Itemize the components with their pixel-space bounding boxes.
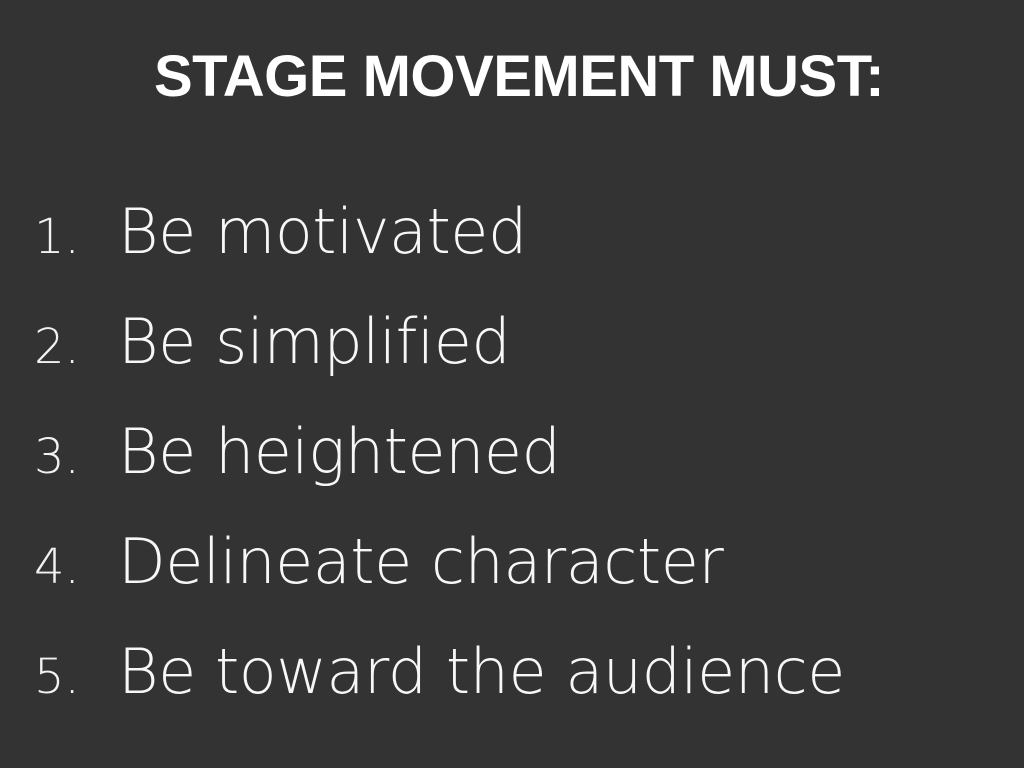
- list-item-label: Delineate character: [118, 526, 1024, 598]
- list-item-label: Be motivated: [118, 196, 1024, 268]
- page-title: STAGE MOVEMENT MUST:: [0, 44, 1024, 110]
- list-item-label: Be toward the audience: [118, 636, 1024, 708]
- list-item: 3. Be heightened: [0, 416, 1024, 526]
- numbered-list: 1. Be motivated 2. Be simplified 3. Be h…: [0, 196, 1024, 746]
- list-item-number: 1.: [0, 201, 118, 273]
- list-item: 4. Delineate character: [0, 526, 1024, 636]
- list-item-number: 3.: [0, 421, 118, 493]
- list-item-label: Be heightened: [118, 416, 1024, 488]
- presentation-slide: STAGE MOVEMENT MUST: 1. Be motivated 2. …: [0, 0, 1024, 768]
- list-item-number: 2.: [0, 311, 118, 383]
- list-item-number: 4.: [0, 531, 118, 603]
- list-item-number: 5.: [0, 641, 118, 713]
- list-item: 2. Be simplified: [0, 306, 1024, 416]
- list-item: 1. Be motivated: [0, 196, 1024, 306]
- list-item: 5. Be toward the audience: [0, 636, 1024, 746]
- list-item-label: Be simplified: [118, 306, 1024, 378]
